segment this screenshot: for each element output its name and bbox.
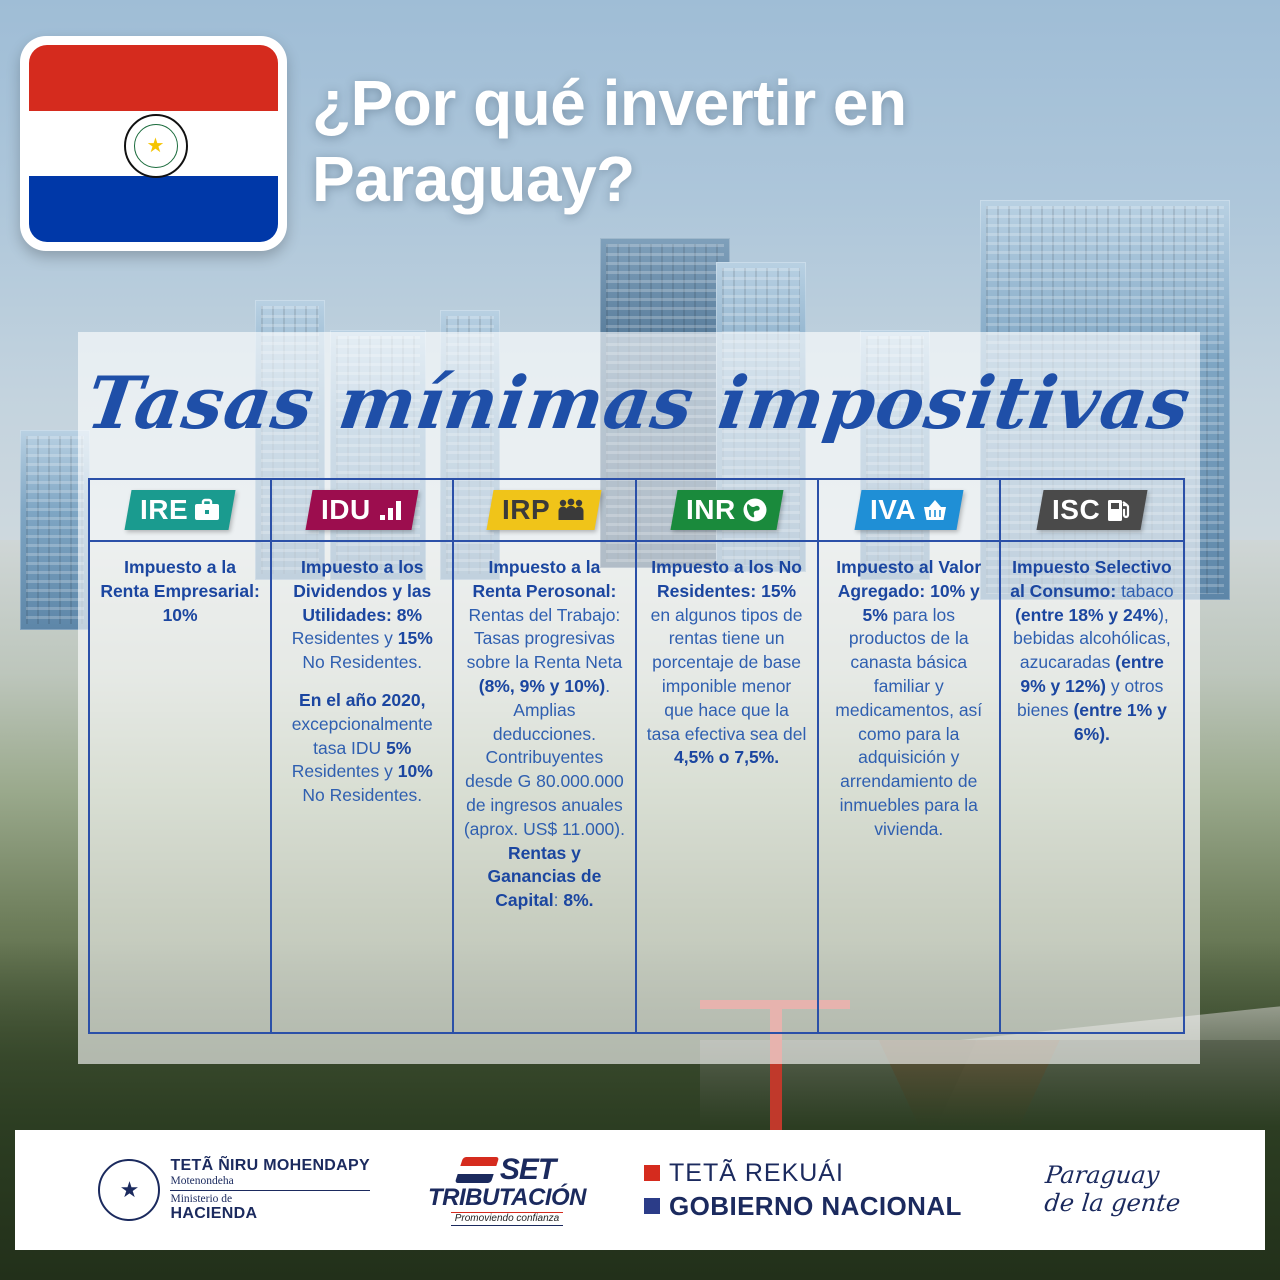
tax-column-iva: IVAImpuesto al Valor Agregado: 10% y 5% … xyxy=(819,480,1001,1032)
people-icon xyxy=(557,498,587,522)
tax-column-body: Impuesto a la Renta Perosonal: Rentas de… xyxy=(454,542,634,1032)
hacienda-line3: Ministerio de xyxy=(170,1193,369,1206)
tax-column-body: Impuesto al Valor Agregado: 10% y 5% par… xyxy=(819,542,999,1032)
tax-column-inr: INRImpuesto a los No Residentes: 15% en … xyxy=(637,480,819,1032)
tax-column-body: Impuesto a los Dividendos y las Utilidad… xyxy=(272,542,452,1032)
tax-code-label: ISC xyxy=(1052,496,1100,524)
flag-stripe-red xyxy=(29,45,278,111)
tax-code-label: IRE xyxy=(140,496,188,524)
tax-description: Impuesto a los Dividendos y las Utilidad… xyxy=(281,556,443,675)
tax-column-isc: ISCImpuesto Selectivo al Consumo: tabaco… xyxy=(1001,480,1183,1032)
flag-stripes-icon xyxy=(455,1157,499,1183)
tax-description: En el año 2020, excepcionalmente tasa ID… xyxy=(281,689,443,808)
tax-badge-ire: IRE xyxy=(124,490,235,530)
tax-column-header-irp: IRP xyxy=(454,480,634,542)
tax-code-label: INR xyxy=(686,496,736,524)
set-sub: TRIBUTACIÓN xyxy=(428,1186,586,1210)
logo-set-tributacion: SET TRIBUTACIÓN Promoviendo confianza xyxy=(428,1155,586,1226)
tax-rates-table: IREImpuesto a la Renta Empresarial: 10%I… xyxy=(88,478,1185,1034)
set-promo: Promoviendo confianza xyxy=(451,1212,564,1226)
tax-badge-irp: IRP xyxy=(487,490,602,530)
tax-column-ire: IREImpuesto a la Renta Empresarial: 10% xyxy=(90,480,272,1032)
tax-column-body: Impuesto Selectivo al Consumo: tabaco (e… xyxy=(1001,542,1183,1032)
tax-description: Impuesto a la Renta Empresarial: 10% xyxy=(99,556,261,627)
tax-badge-inr: INR xyxy=(670,490,783,530)
flag-stripe-blue xyxy=(29,176,278,242)
hacienda-line4: HACIENDA xyxy=(170,1205,369,1223)
tax-badge-iva: IVA xyxy=(854,490,963,530)
section-title: Tasas mínimas impositivas xyxy=(70,346,1208,458)
logo-hacienda: ★ TETÃ ÑIRU MOHENDAPY Motenondeha Minist… xyxy=(98,1157,369,1224)
tax-column-body: Impuesto a los No Residentes: 15% en alg… xyxy=(637,542,817,1032)
tax-column-header-ire: IRE xyxy=(90,480,270,542)
gobierno-line2: GOBIERNO NACIONAL xyxy=(669,1191,962,1222)
slogan-line1: Paraguay xyxy=(1020,1162,1185,1190)
square-blue-icon xyxy=(644,1198,660,1214)
tax-description: Impuesto al Valor Agregado: 10% y 5% par… xyxy=(828,556,990,842)
logo-gobierno-nacional: TETÃ REKUÁI GOBIERNO NACIONAL xyxy=(644,1159,962,1222)
bar-chart-icon xyxy=(377,498,403,522)
paraguay-flag: ★ xyxy=(20,36,287,251)
globe-icon xyxy=(741,497,767,523)
divider xyxy=(170,1190,369,1191)
tax-column-irp: IRPImpuesto a la Renta Perosonal: Rentas… xyxy=(454,480,636,1032)
tax-badge-isc: ISC xyxy=(1036,490,1147,530)
footer-logo-bar: ★ TETÃ ÑIRU MOHENDAPY Motenondeha Minist… xyxy=(15,1130,1265,1250)
hacienda-line1: TETÃ ÑIRU MOHENDAPY xyxy=(170,1157,369,1175)
tax-column-header-inr: INR xyxy=(637,480,817,542)
tax-column-idu: IDUImpuesto a los Dividendos y las Utili… xyxy=(272,480,454,1032)
tax-description: Impuesto Selectivo al Consumo: tabaco (e… xyxy=(1010,556,1174,746)
coat-of-arms-icon: ★ xyxy=(98,1159,160,1221)
coat-of-arms-icon: ★ xyxy=(124,114,188,178)
square-red-icon xyxy=(644,1165,660,1181)
tax-code-label: IRP xyxy=(502,496,550,524)
page-title: ¿Por qué invertir en Paraguay? xyxy=(312,66,1142,217)
tax-column-header-idu: IDU xyxy=(272,480,452,542)
tax-badge-idu: IDU xyxy=(306,490,419,530)
tax-column-header-iva: IVA xyxy=(819,480,999,542)
infographic-root: ★ ¿Por qué invertir en Paraguay? Tasas m… xyxy=(0,0,1280,1280)
hacienda-line2: Motenondeha xyxy=(170,1175,369,1188)
briefcase-icon xyxy=(194,498,220,522)
tax-column-header-isc: ISC xyxy=(1001,480,1183,542)
set-word: SET xyxy=(500,1155,555,1185)
basket-icon xyxy=(922,498,948,522)
tax-column-body: Impuesto a la Renta Empresarial: 10% xyxy=(90,542,270,1032)
tax-code-label: IVA xyxy=(870,496,916,524)
tax-description: Impuesto a los No Residentes: 15% en alg… xyxy=(646,556,808,770)
tax-code-label: IDU xyxy=(321,496,371,524)
fuel-pump-icon xyxy=(1106,497,1132,523)
slogan-line2: de la gente xyxy=(1017,1190,1182,1218)
tax-description: Impuesto a la Renta Perosonal: Rentas de… xyxy=(463,556,625,913)
logo-paraguay-de-la-gente: Paraguay de la gente xyxy=(1017,1162,1184,1217)
gobierno-line1: TETÃ REKUÁI xyxy=(669,1159,844,1188)
